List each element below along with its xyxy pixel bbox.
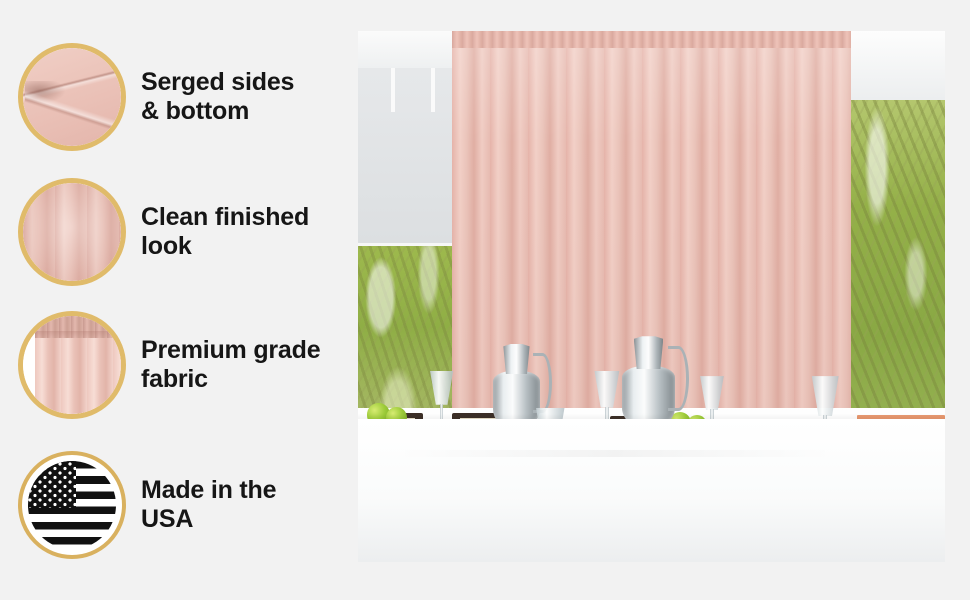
feature-item-clean-finished-look: Clean finished look xyxy=(18,178,348,286)
banquet-room-pink-curtain-backdrop-photo xyxy=(358,31,945,562)
usa-flag-badge-icon xyxy=(18,451,126,559)
flag-stars xyxy=(28,461,76,508)
serged-fabric-corner-icon xyxy=(18,43,126,151)
usa-flag-disc xyxy=(28,461,116,549)
flag-canton xyxy=(28,461,76,508)
product-feature-infographic: Serged sides & bottom Clean finished loo… xyxy=(0,0,970,600)
feature-label: Made in the USA xyxy=(141,476,276,535)
feature-label: Serged sides & bottom xyxy=(141,68,294,127)
feature-label: Clean finished look xyxy=(141,203,309,262)
pleated-fabric-closeup-icon xyxy=(18,178,126,286)
feature-item-premium-grade-fabric: Premium grade fabric xyxy=(18,311,348,419)
feature-label: Premium grade fabric xyxy=(141,336,320,395)
feature-list: Serged sides & bottom Clean finished loo… xyxy=(0,0,350,600)
hanging-curtain-panel-icon xyxy=(18,311,126,419)
feature-item-made-in-the-usa: Made in the USA xyxy=(18,451,348,559)
curtain-gathered-header xyxy=(452,31,851,48)
front-banquet-table xyxy=(358,419,945,562)
feature-item-serged-sides-bottom: Serged sides & bottom xyxy=(18,43,348,151)
